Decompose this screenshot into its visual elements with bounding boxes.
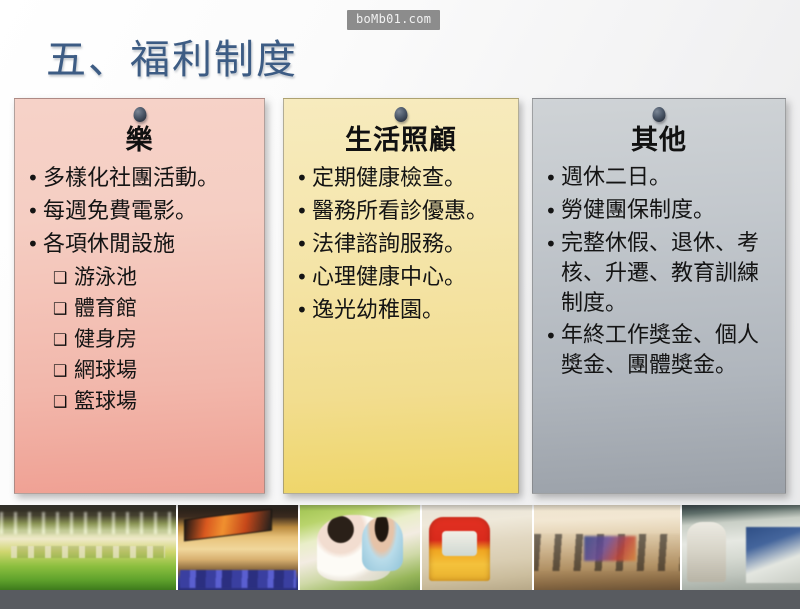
sub-list-item: ❑ 網球場 — [53, 355, 258, 386]
bullet-dot-icon: • — [296, 163, 312, 194]
list-item-label: 完整休假、退休、考核、升遷、教育訓練制度。 — [561, 229, 779, 319]
children-hugging-photo — [300, 505, 422, 590]
square-bullet-icon: ❑ — [53, 293, 74, 324]
card-other: 其他 • 週休二日。 • 勞健團保制度。 • 完整休假、退休、考核、升遷、教育訓… — [532, 98, 786, 494]
list-item-label: 定期健康檢查。 — [312, 163, 512, 194]
bullet-dot-icon: • — [296, 196, 312, 227]
list-item: • 勞健團保制度。 — [545, 196, 779, 227]
list-item-label: 醫務所看診優惠。 — [312, 196, 512, 227]
list-item: • 完整休假、退休、考核、升遷、教育訓練制度。 — [545, 229, 779, 319]
bullet-dot-icon: • — [545, 196, 561, 227]
list-item-label: 多樣化社團活動。 — [43, 163, 258, 194]
page-title: 五、福利制度 — [46, 27, 298, 85]
sub-list-item-label: 網球場 — [74, 355, 137, 386]
fitness-room-photo — [534, 505, 682, 590]
cafeteria-buffet-photo — [178, 505, 300, 590]
sub-list-item-label: 游泳池 — [74, 262, 137, 293]
sub-list-facilities: ❑ 游泳池 ❑ 體育館 ❑ 健身房 ❑ 網球場 — [27, 262, 258, 417]
list-item-label: 法律諮詢服務。 — [312, 229, 512, 260]
list-item: • 多樣化社團活動。 — [27, 163, 258, 194]
bullet-dot-icon: • — [296, 229, 312, 260]
bullet-dot-icon: • — [296, 295, 312, 326]
sub-list-item: ❑ 籃球場 — [53, 386, 258, 417]
card-leisure: 樂 • 多樣化社團活動。 • 每週免費電影。 • 各項休閒設施 ❑ 游 — [14, 98, 265, 494]
card-title-other: 其他 — [533, 125, 785, 157]
list-item: • 每週免費電影。 — [27, 196, 258, 227]
sub-list-item-label: 籃球場 — [74, 386, 137, 417]
bullet-dot-icon: • — [296, 262, 312, 293]
sub-list-item: ❑ 游泳池 — [53, 262, 258, 293]
card-body-living-care: • 定期健康檢查。 • 醫務所看診優惠。 • 法律諮詢服務。 • 心理健康中心。… — [284, 163, 518, 326]
list-item: • 定期健康檢查。 — [296, 163, 512, 194]
photo-strip — [0, 505, 800, 590]
indoor-playground-photo — [422, 505, 534, 590]
square-bullet-icon: ❑ — [53, 262, 74, 293]
list-item-label: 各項休閒設施 — [43, 229, 258, 260]
bullet-dot-icon: • — [545, 321, 561, 352]
list-item-label: 年終工作獎金、個人獎金、團體獎金。 — [561, 321, 779, 381]
square-bullet-icon: ❑ — [53, 324, 74, 355]
list-item: • 法律諮詢服務。 — [296, 229, 512, 260]
list-item: • 心理健康中心。 — [296, 262, 512, 293]
list-item-label: 週休二日。 — [561, 163, 779, 193]
watermark-label: boMb01.com — [347, 10, 440, 30]
card-body-leisure: • 多樣化社團活動。 • 每週免費電影。 • 各項休閒設施 ❑ 游泳池 — [15, 163, 264, 417]
cards-row: 樂 • 多樣化社團活動。 • 每週免費電影。 • 各項休閒設施 ❑ 游 — [0, 98, 800, 498]
bullet-dot-icon: • — [545, 229, 561, 260]
sub-list-item: ❑ 體育館 — [53, 293, 258, 324]
pushpin-icon — [653, 107, 666, 122]
sub-list-item-label: 體育館 — [74, 293, 137, 324]
card-living-care: 生活照顧 • 定期健康檢查。 • 醫務所看診優惠。 • 法律諮詢服務。 • 心理… — [283, 98, 519, 494]
square-bullet-icon: ❑ — [53, 386, 74, 417]
bottom-bar — [0, 590, 800, 609]
bullet-dot-icon: • — [27, 229, 43, 260]
list-item-label: 每週免費電影。 — [43, 196, 258, 227]
bullet-dot-icon: • — [545, 163, 561, 194]
card-title-living-care: 生活照顧 — [284, 125, 518, 157]
sub-list-item-label: 健身房 — [74, 324, 137, 355]
badminton-gymnasium-photo — [0, 505, 178, 590]
pushpin-icon — [133, 107, 146, 122]
bullet-dot-icon: • — [27, 196, 43, 227]
pushpin-icon — [395, 107, 408, 122]
bullet-dot-icon: • — [27, 163, 43, 194]
list-item-label: 逸光幼稚園。 — [312, 295, 512, 326]
list-item: • 逸光幼稚園。 — [296, 295, 512, 326]
card-title-leisure: 樂 — [15, 125, 264, 157]
square-bullet-icon: ❑ — [53, 355, 74, 386]
medical-clinic-photo — [682, 505, 800, 590]
sub-list-item: ❑ 健身房 — [53, 324, 258, 355]
list-item: • 週休二日。 — [545, 163, 779, 194]
list-item: • 各項休閒設施 — [27, 229, 258, 260]
list-item-label: 心理健康中心。 — [312, 262, 512, 293]
list-item: • 醫務所看診優惠。 — [296, 196, 512, 227]
list-item: • 年終工作獎金、個人獎金、團體獎金。 — [545, 321, 779, 381]
slide-canvas: boMb01.com 五、福利制度 樂 • 多樣化社團活動。 • 每週免費電影。… — [0, 0, 800, 609]
card-body-other: • 週休二日。 • 勞健團保制度。 • 完整休假、退休、考核、升遷、教育訓練制度… — [533, 163, 785, 381]
list-item-label: 勞健團保制度。 — [561, 196, 779, 226]
